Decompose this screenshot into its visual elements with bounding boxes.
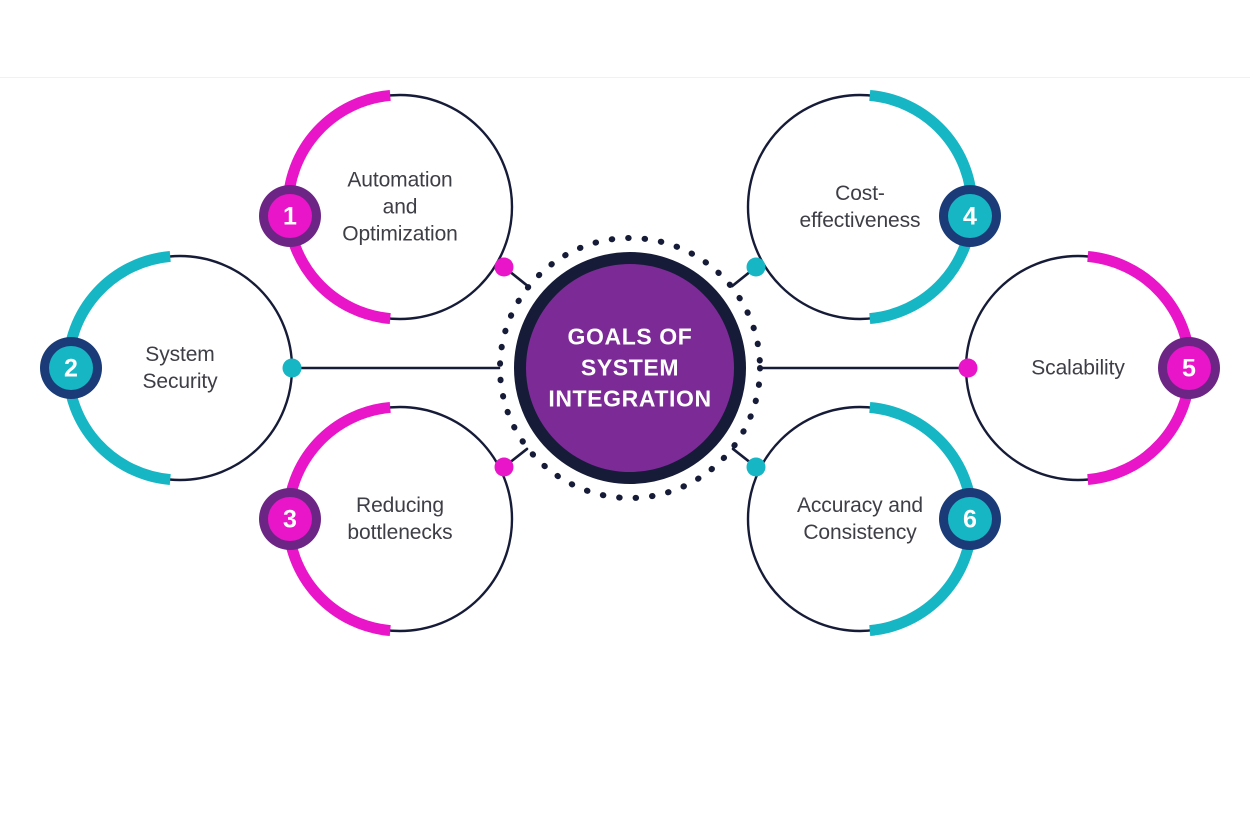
badge-fill-2[interactable]: [49, 346, 93, 390]
connector-dot-6: [747, 458, 766, 477]
badge-fill-6[interactable]: [948, 497, 992, 541]
connector-dot-2: [283, 359, 302, 378]
diagram-canvas: GOALS OF SYSTEM INTEGRATION Automation a…: [0, 0, 1250, 833]
connector-dot-4: [747, 258, 766, 277]
badge-fill-5[interactable]: [1167, 346, 1211, 390]
goals-of-system-integration-diagram: [0, 0, 1250, 833]
hub-circle[interactable]: [520, 258, 740, 478]
connector-dot-5: [959, 359, 978, 378]
badge-fill-3[interactable]: [268, 497, 312, 541]
badge-fill-4[interactable]: [948, 194, 992, 238]
badge-fill-1[interactable]: [268, 194, 312, 238]
connector-dot-1: [495, 258, 514, 277]
connector-dot-3: [495, 458, 514, 477]
